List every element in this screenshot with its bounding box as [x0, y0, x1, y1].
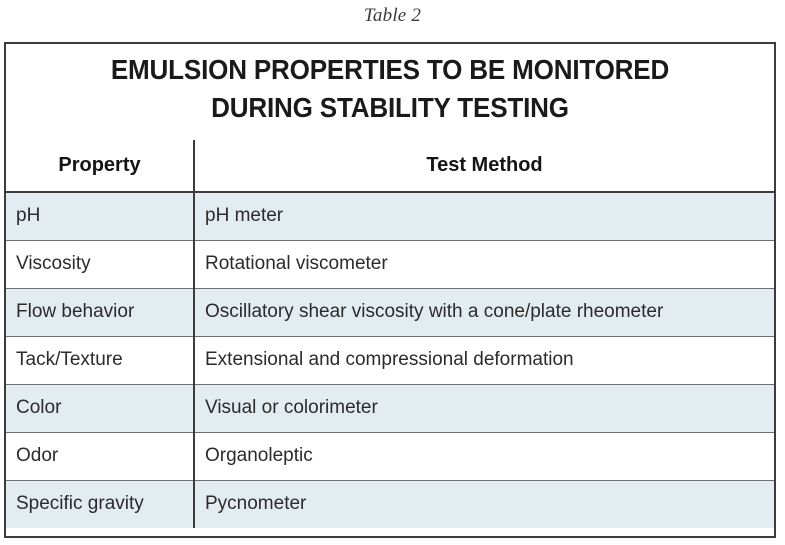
column-header-row: Property Test Method [6, 140, 774, 192]
table-row: Tack/TextureExtensional and compressiona… [6, 336, 774, 384]
cell-test-method: Organoleptic [194, 432, 774, 480]
table-row: Specific gravityPycnometer [6, 480, 774, 528]
table-container: EMULSION PROPERTIES TO BE MONITORED DURI… [4, 42, 776, 538]
properties-table: Property Test Method pHpH meterViscosity… [6, 140, 774, 528]
cell-property: pH [6, 192, 194, 240]
cell-property: Odor [6, 432, 194, 480]
column-header-property: Property [6, 140, 194, 192]
cell-test-method: Rotational viscometer [194, 240, 774, 288]
cell-property: Color [6, 384, 194, 432]
cell-test-method: Oscillatory shear viscosity with a cone/… [194, 288, 774, 336]
table-row: ViscosityRotational viscometer [6, 240, 774, 288]
table-row: ColorVisual or colorimeter [6, 384, 774, 432]
cell-test-method: Pycnometer [194, 480, 774, 528]
table-title-line-1: EMULSION PROPERTIES TO BE MONITORED [33, 51, 747, 89]
cell-property: Viscosity [6, 240, 194, 288]
table-row: OdorOrganoleptic [6, 432, 774, 480]
cell-property: Tack/Texture [6, 336, 194, 384]
column-header-test-method: Test Method [194, 140, 774, 192]
table-title: EMULSION PROPERTIES TO BE MONITORED DURI… [6, 44, 774, 140]
table-row: Flow behaviorOscillatory shear viscosity… [6, 288, 774, 336]
cell-property: Specific gravity [6, 480, 194, 528]
table-head: Property Test Method [6, 140, 774, 192]
table-row: pHpH meter [6, 192, 774, 240]
cell-test-method: pH meter [194, 192, 774, 240]
table-body: pHpH meterViscosityRotational viscometer… [6, 192, 774, 528]
cell-test-method: Visual or colorimeter [194, 384, 774, 432]
table-caption: Table 2 [0, 5, 785, 27]
cell-property: Flow behavior [6, 288, 194, 336]
cell-test-method: Extensional and compressional deformatio… [194, 336, 774, 384]
table-title-line-2: DURING STABILITY TESTING [33, 89, 747, 127]
